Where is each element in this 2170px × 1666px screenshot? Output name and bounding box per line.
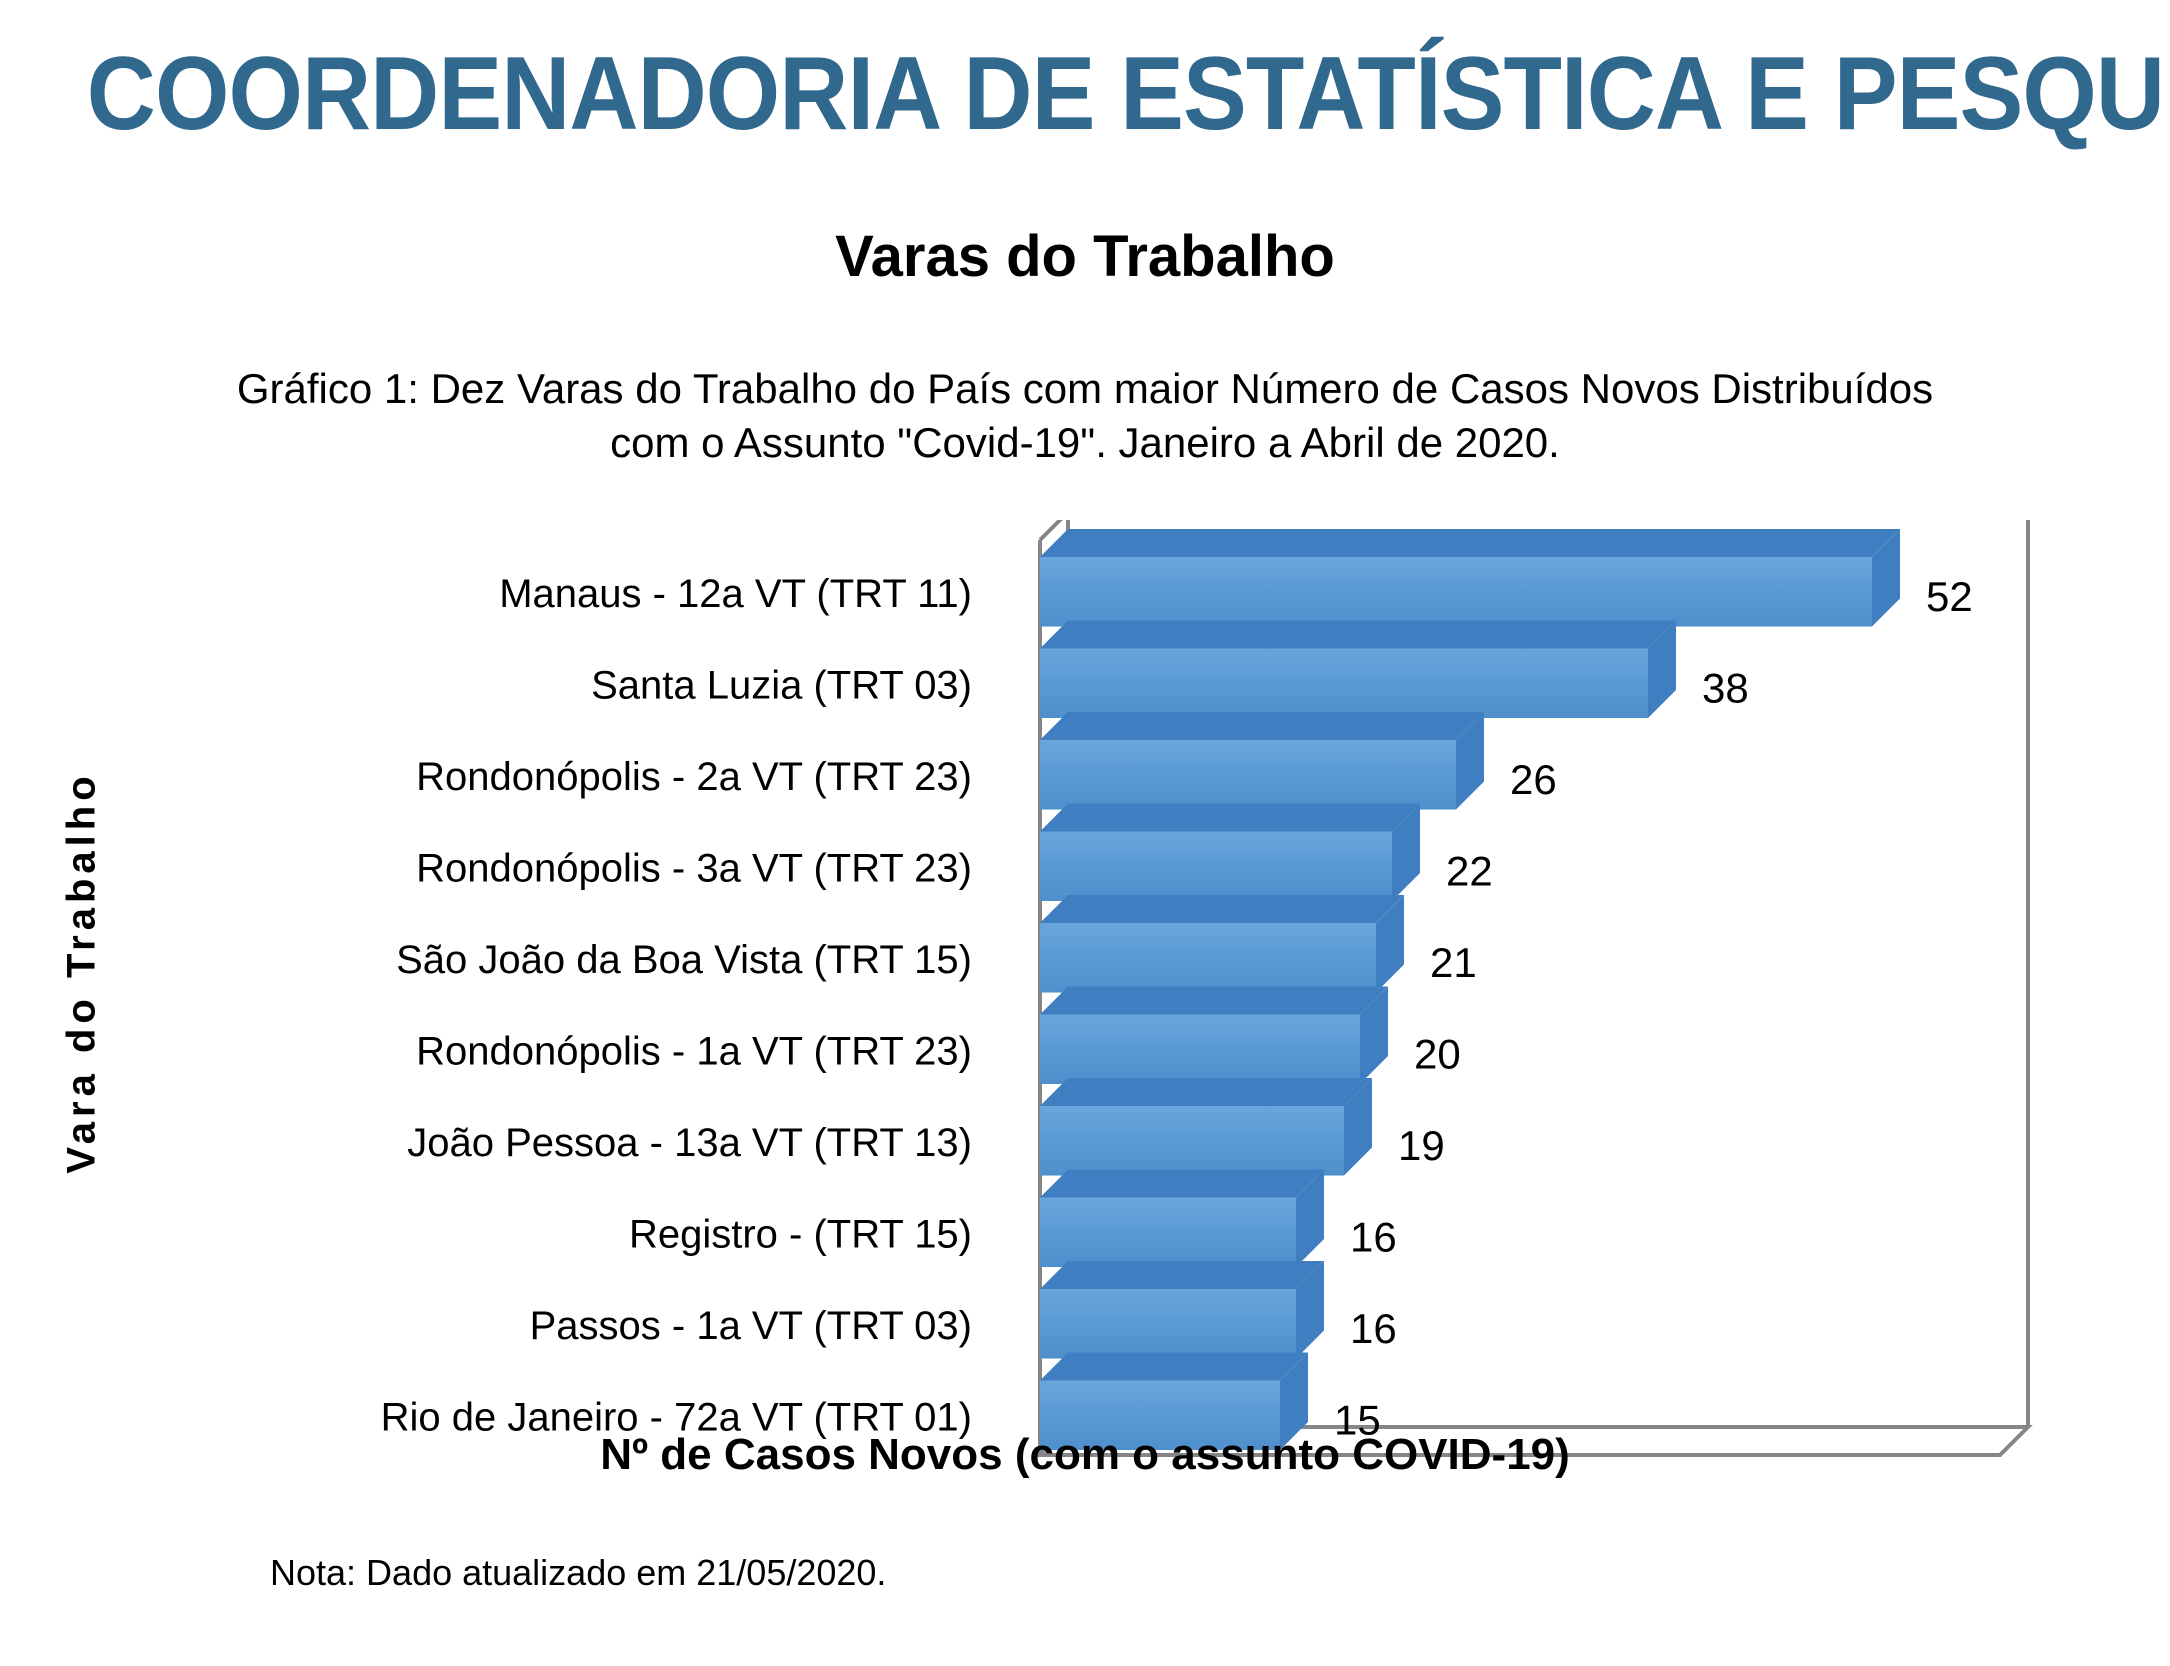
- bar-front-face: [1040, 557, 1872, 627]
- bar-value-label: 26: [1510, 756, 1557, 803]
- category-label: Passos - 1a VT (TRT 03): [530, 1304, 972, 1348]
- bar-value-label: 52: [1926, 573, 1973, 620]
- category-label: Rondonópolis - 2a VT (TRT 23): [416, 755, 972, 799]
- bar-value-label: 19: [1398, 1122, 1445, 1169]
- bar-value-label: 16: [1350, 1305, 1397, 1352]
- bar-top-face: [1040, 529, 1900, 557]
- bar-top-face: [1040, 895, 1404, 923]
- bar-front-face: [1040, 740, 1456, 810]
- bar-group: 52: [1040, 529, 1973, 627]
- bar-top-face: [1040, 1169, 1324, 1197]
- bar-top-face: [1040, 620, 1676, 648]
- category-label: Santa Luzia (TRT 03): [591, 664, 972, 708]
- bar-value-label: 20: [1414, 1031, 1461, 1078]
- x-axis-title: Nº de Casos Novos (com o assunto COVID-1…: [0, 1430, 2170, 1480]
- bar-front-face: [1040, 648, 1648, 718]
- bar-top-face: [1040, 1261, 1324, 1289]
- bar-top-face: [1040, 1078, 1372, 1106]
- category-label: São João da Boa Vista (TRT 15): [396, 938, 972, 982]
- bar-top-face: [1040, 1352, 1308, 1380]
- chart-caption-line-1: Gráfico 1: Dez Varas do Trabalho do País…: [120, 362, 2050, 416]
- bar-front-face: [1040, 923, 1376, 993]
- bar-front-face: [1040, 1106, 1344, 1176]
- category-label: João Pessoa - 13a VT (TRT 13): [407, 1121, 972, 1165]
- category-label: Rondonópolis - 1a VT (TRT 23): [416, 1030, 972, 1074]
- bar-top-face: [1040, 803, 1420, 831]
- bar-group: 38: [1040, 620, 1749, 718]
- section-title: Varas do Trabalho: [0, 228, 2170, 286]
- bar-front-face: [1040, 1289, 1296, 1359]
- bar-chart: Vara do Trabalho 52Manaus - 12a VT (TRT …: [0, 520, 2170, 1500]
- category-label: Manaus - 12a VT (TRT 11): [499, 572, 972, 616]
- bar-value-label: 16: [1350, 1214, 1397, 1261]
- chart-caption: Gráfico 1: Dez Varas do Trabalho do País…: [120, 362, 2050, 470]
- bar-value-label: 22: [1446, 848, 1493, 895]
- category-label: Registro - (TRT 15): [629, 1213, 972, 1257]
- bar-top-face: [1040, 712, 1484, 740]
- bar-front-face: [1040, 1197, 1296, 1267]
- chart-plot-svg: 52Manaus - 12a VT (TRT 11)38Santa Luzia …: [0, 520, 2170, 1500]
- category-label: Rondonópolis - 3a VT (TRT 23): [416, 847, 972, 891]
- bar-front-face: [1040, 1014, 1360, 1084]
- org-title: COORDENADORIA DE ESTATÍSTICA E PESQUISA …: [87, 42, 2083, 146]
- bar-value-label: 38: [1702, 665, 1749, 712]
- bar-value-label: 21: [1430, 939, 1477, 986]
- footer-note: Nota: Dado atualizado em 21/05/2020.: [270, 1552, 886, 1594]
- bar-front-face: [1040, 831, 1392, 901]
- chart-caption-line-2: com o Assunto "Covid-19". Janeiro a Abri…: [120, 416, 2050, 470]
- bar-top-face: [1040, 986, 1388, 1014]
